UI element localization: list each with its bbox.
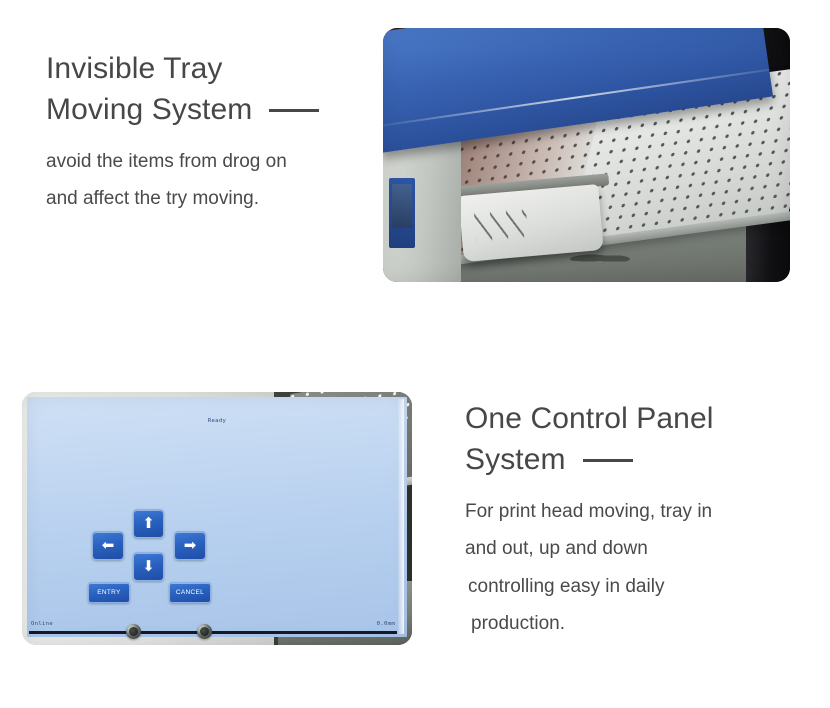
tray-moving-system-photo (383, 28, 790, 282)
lcd-position-text: 0.0mm (377, 621, 395, 627)
arrow-right-button[interactable]: ➡ (174, 531, 206, 560)
feature-1-heading-line-2: Moving System (46, 89, 319, 130)
lcd-glare (398, 399, 404, 634)
lcd-mode-text: Online (31, 621, 53, 627)
tray-carriage-housing (458, 184, 603, 262)
feature-2-heading-text-1: One Control Panel (465, 398, 714, 439)
entry-button[interactable]: ENTRY (88, 582, 130, 603)
feature-2-body-line-4: production. (465, 605, 714, 642)
arrow-left-button[interactable]: ⬅ (92, 531, 124, 560)
feature-page: Invisible Tray Moving System avoid the i… (0, 0, 830, 708)
feature-2-body: For print head moving, tray in and out, … (465, 493, 714, 643)
feature-block-invisible-tray: Invisible Tray Moving System avoid the i… (46, 48, 319, 217)
heading-rule-icon (583, 459, 633, 462)
machine-left-display (389, 178, 415, 248)
lcd-status-text: Ready (27, 418, 407, 424)
arrow-up-button[interactable]: ⬆ (133, 509, 164, 538)
cabinet-bolt-left (126, 624, 141, 639)
cancel-button[interactable]: CANCEL (169, 582, 211, 603)
arrow-down-icon: ⬇ (142, 559, 155, 574)
entry-button-label: ENTRY (97, 589, 120, 596)
feature-2-body-line-3: controlling easy in daily (465, 568, 714, 605)
feature-1-body-line-2: and affect the try moving. (46, 180, 319, 217)
feature-2-body-line-2: and out, up and down (465, 530, 714, 567)
arrow-left-icon: ⬅ (102, 538, 115, 553)
heading-rule-icon (269, 109, 319, 112)
lcd-bottom-bar (29, 631, 397, 634)
lcd-bezel: Ready Online 0.0mm (22, 392, 115, 452)
arrow-right-icon: ➡ (184, 538, 197, 553)
feature-block-one-control-panel: One Control Panel System For print head … (465, 398, 714, 642)
feature-2-heading-line-2: System (465, 439, 714, 480)
lcd-screen: Ready Online 0.0mm (27, 397, 407, 637)
feature-2-heading-text-2: System (465, 439, 566, 480)
feature-2-heading-line-1: One Control Panel (465, 398, 714, 439)
cancel-button-label: CANCEL (176, 589, 204, 596)
control-panel-photo: Ready Online 0.0mm ⬆ ⬇ ⬅ ➡ ENTRY CANCEL (22, 392, 412, 645)
cabinet-bolt-right (197, 624, 212, 639)
feature-1-heading-text-1: Invisible Tray (46, 48, 222, 89)
feature-1-body-line-1: avoid the items from drog on (46, 143, 319, 180)
feature-1-body: avoid the items from drog on and affect … (46, 143, 319, 217)
feature-2-body-line-1: For print head moving, tray in (465, 493, 714, 530)
feature-1-heading-line-1: Invisible Tray (46, 48, 319, 89)
arrow-down-button[interactable]: ⬇ (133, 552, 164, 581)
arrow-up-icon: ⬆ (142, 516, 155, 531)
feature-1-heading-text-2: Moving System (46, 89, 252, 130)
